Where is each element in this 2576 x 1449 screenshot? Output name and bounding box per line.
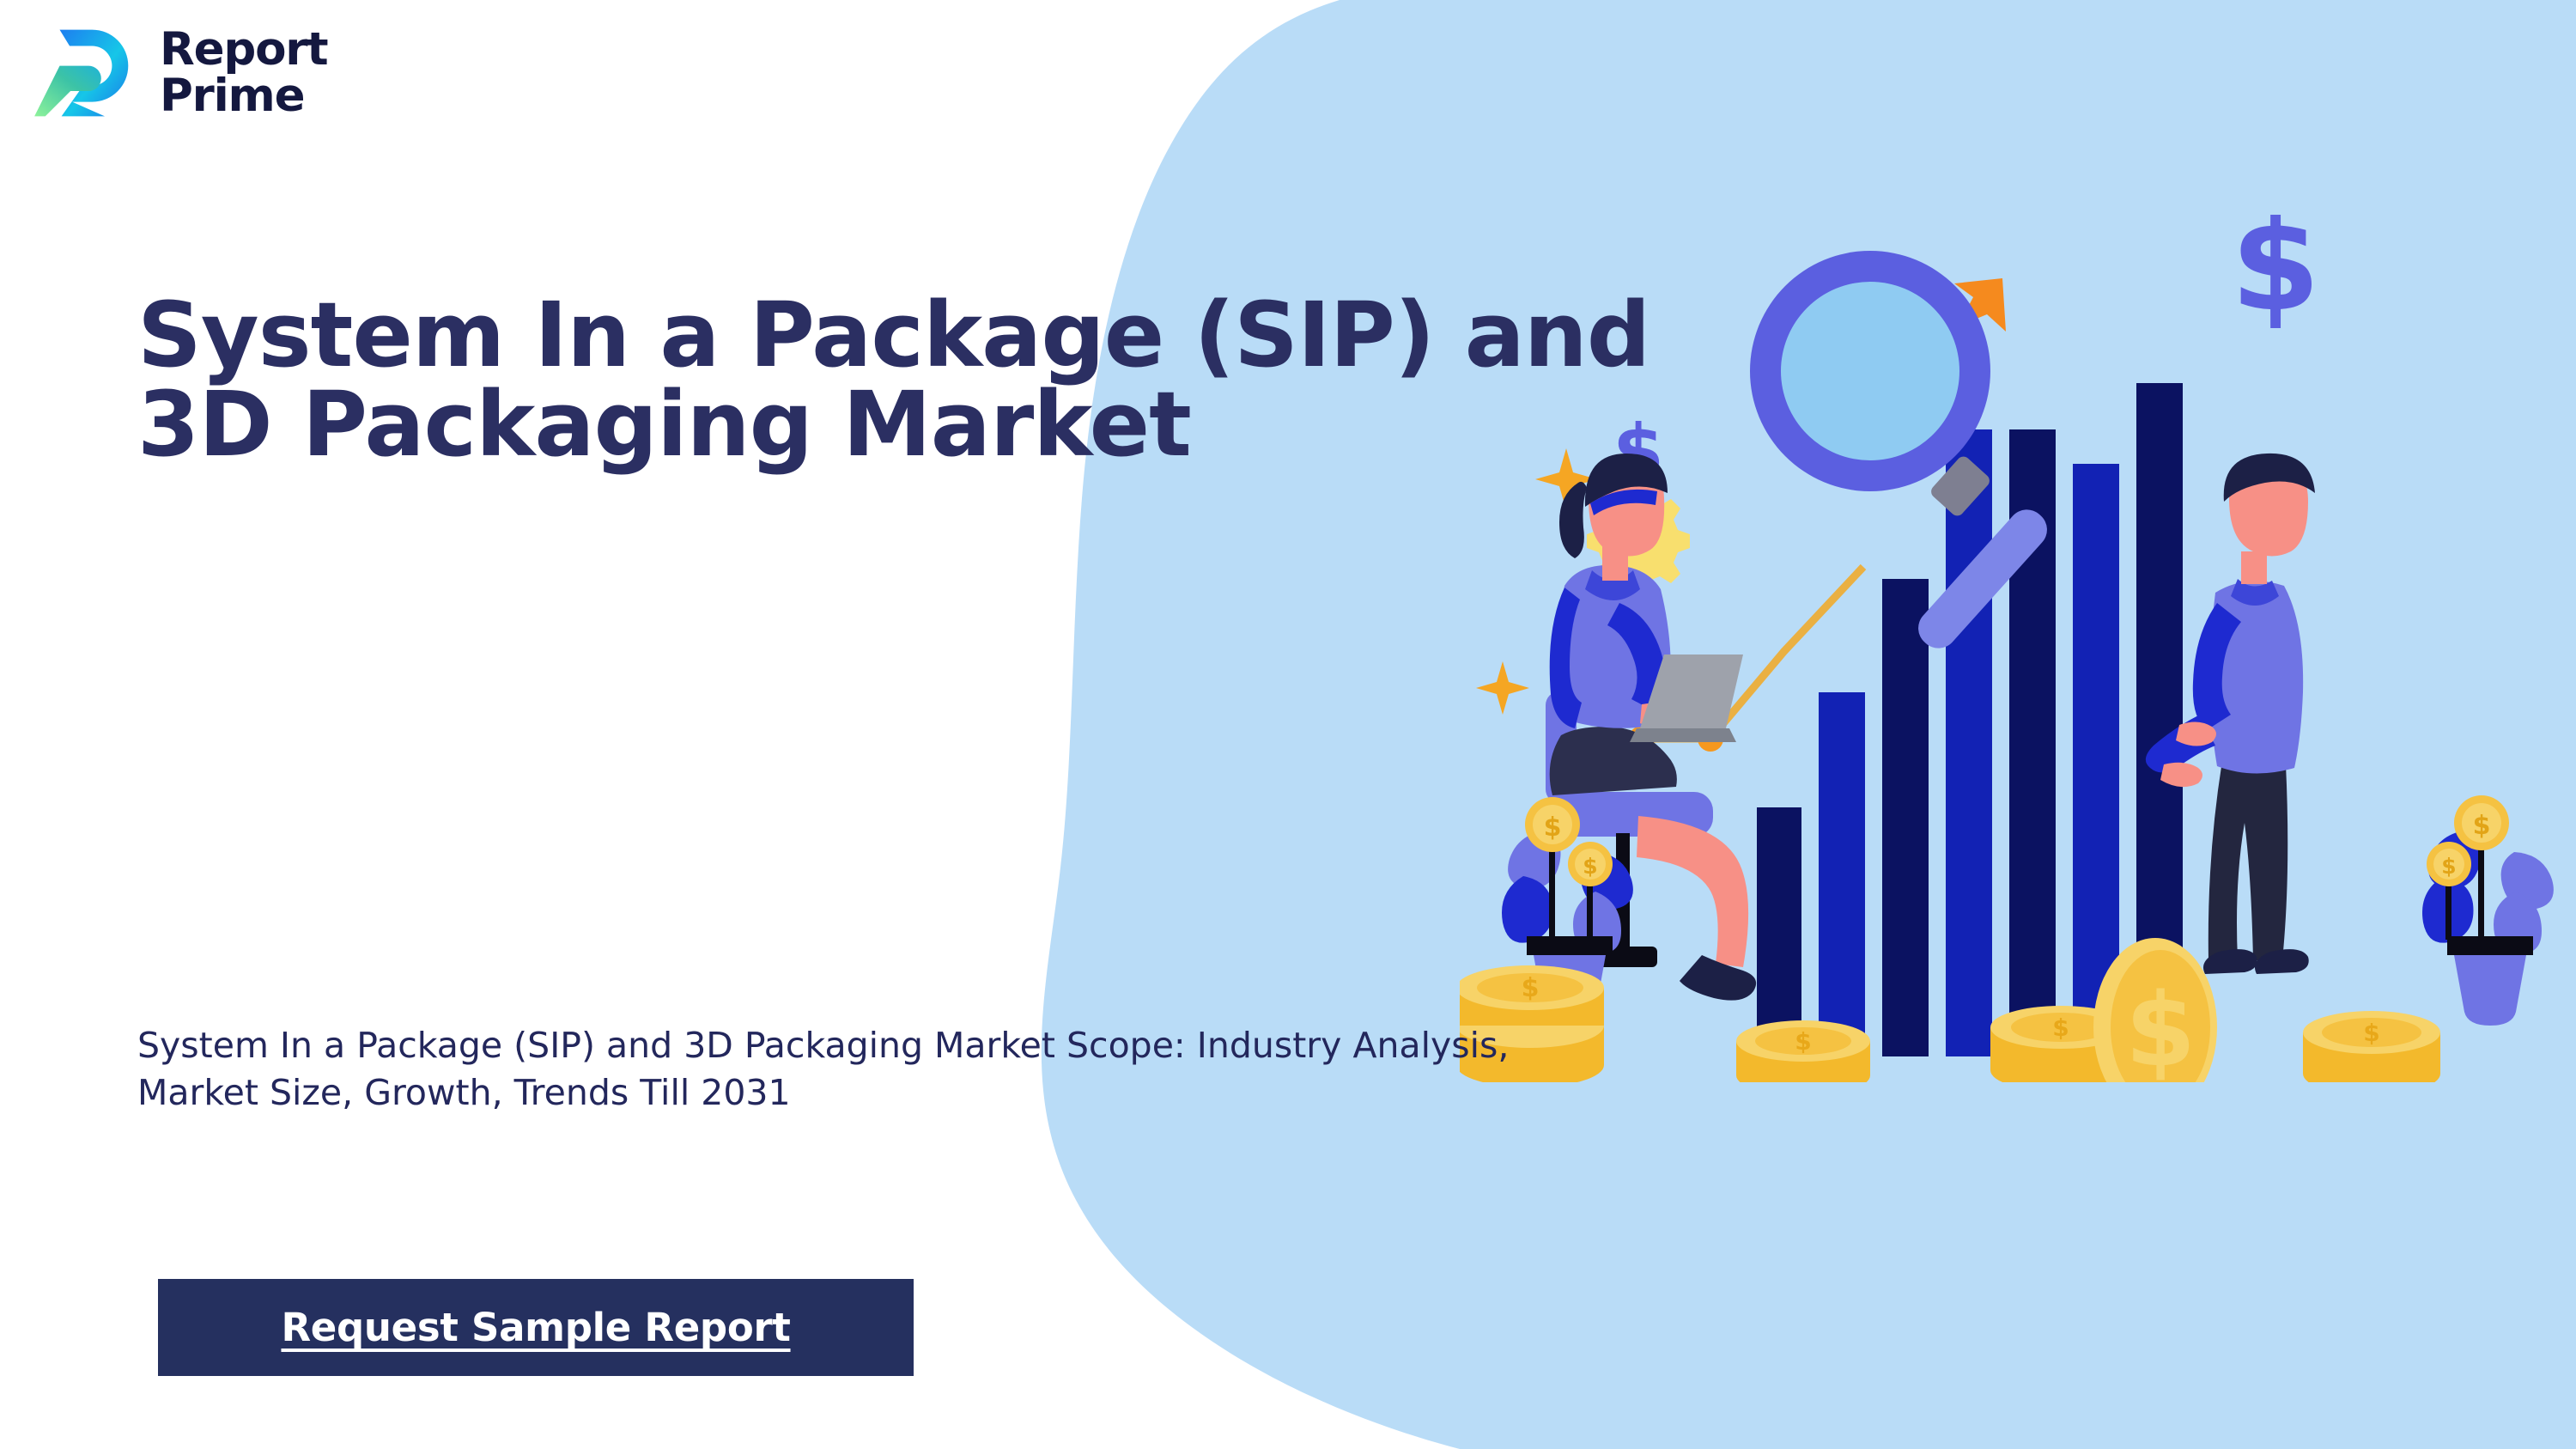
svg-text:$: $ bbox=[1522, 973, 1540, 1003]
page-subtitle: System In a Package (SIP) and 3D Packagi… bbox=[137, 1022, 1597, 1116]
coin-stack-center: $ bbox=[1736, 1020, 1870, 1082]
svg-text:$: $ bbox=[2441, 854, 2456, 879]
page-title: System In a Package (SIP) and 3D Packagi… bbox=[137, 290, 1735, 469]
report-prime-logo-icon bbox=[33, 19, 141, 127]
coin-stack-far-right: $ bbox=[2303, 1011, 2440, 1082]
sparkle-icon bbox=[1476, 661, 1529, 715]
svg-text:$: $ bbox=[2363, 1019, 2379, 1047]
request-sample-report-label: Request Sample Report bbox=[281, 1305, 790, 1350]
money-plant-right: $ $ bbox=[2422, 795, 2554, 1026]
brand-logo[interactable]: Report Prime bbox=[33, 19, 327, 127]
svg-text:$: $ bbox=[1795, 1027, 1811, 1056]
brand-name: Report Prime bbox=[160, 27, 327, 119]
request-sample-report-button[interactable]: Request Sample Report bbox=[158, 1279, 914, 1376]
hero-banner: Report Prime System In a Package (SIP) a… bbox=[0, 0, 2576, 1449]
dollar-sign-icon-large: $ bbox=[2231, 215, 2320, 340]
svg-text:$: $ bbox=[2473, 811, 2491, 841]
brand-name-line1: Report bbox=[160, 27, 327, 73]
svg-text:$: $ bbox=[1583, 854, 1597, 879]
svg-text:$: $ bbox=[2125, 971, 2196, 1082]
svg-text:$: $ bbox=[1544, 813, 1562, 843]
brand-name-line2: Prime bbox=[160, 73, 327, 119]
svg-text:$: $ bbox=[2052, 1014, 2069, 1042]
